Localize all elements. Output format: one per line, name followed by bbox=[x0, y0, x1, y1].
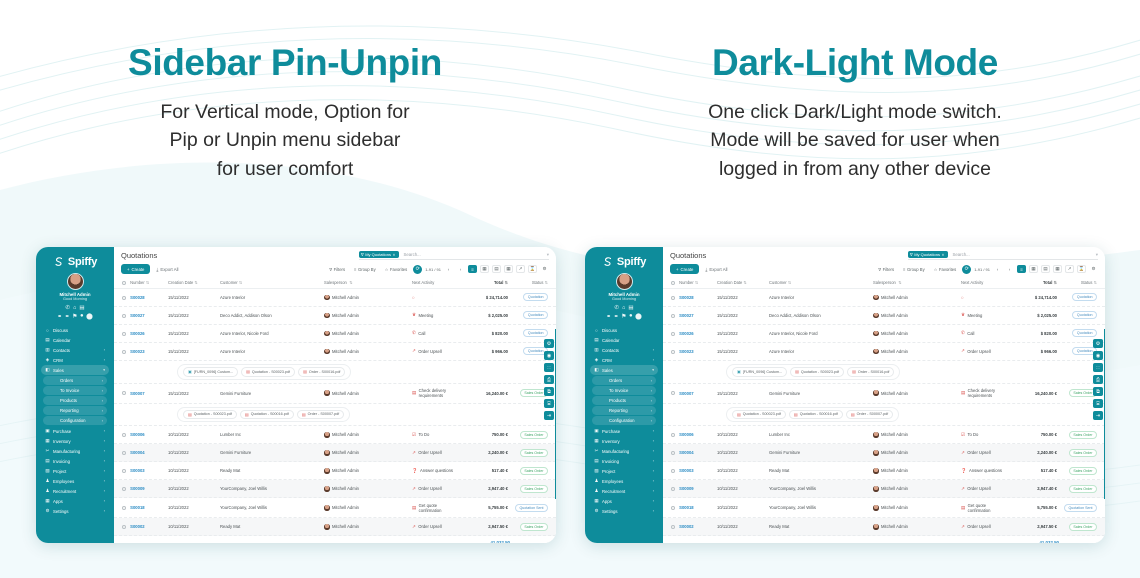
cell-number[interactable]: S00027 bbox=[122, 313, 168, 318]
sidebar-item-reporting[interactable]: Reporting› bbox=[43, 406, 107, 415]
fab-print-icon[interactable]: ⎙ bbox=[544, 375, 554, 384]
sidebar-item-inventory[interactable]: ▦Inventory› bbox=[590, 436, 658, 446]
sidebar-item-crm[interactable]: ◈CRM› bbox=[590, 355, 658, 365]
graph-view-icon[interactable]: ↗ bbox=[516, 265, 525, 273]
table-row[interactable]: S00004 10/11/2022 Gemini Furniture Mitch… bbox=[114, 444, 556, 462]
pivot-view-icon[interactable]: ▦ bbox=[1053, 265, 1062, 273]
table-row[interactable]: S00027 15/11/2022 Deco Addict, Addison O… bbox=[114, 307, 556, 325]
app-logo[interactable]: Spiffy bbox=[40, 256, 110, 268]
attachment-row: ▣ [FURN_0096] Custom... ▤ Quotation - S0… bbox=[663, 361, 1105, 384]
attachment-pill[interactable]: ▤ Order - S00007.pdf bbox=[297, 410, 344, 420]
table-row[interactable]: S00018 10/11/2022 YourCompany, Joel Will… bbox=[114, 498, 556, 518]
table-row[interactable]: S00003 10/11/2022 Ready Mat Mitchell Adm… bbox=[114, 462, 556, 480]
cell-creation-date: 15/11/2022 bbox=[168, 313, 220, 318]
avatar bbox=[873, 295, 879, 301]
cell-number[interactable]: S00023 bbox=[122, 349, 168, 354]
list-view-icon[interactable]: ≡ bbox=[468, 265, 477, 273]
sidebar-item-manufacturing[interactable]: ✂Manufacturing› bbox=[41, 446, 109, 456]
attachment-pill[interactable]: ▤ Quotation - S00023.pdf bbox=[183, 410, 237, 420]
cell-number[interactable]: S00027 bbox=[671, 313, 717, 318]
sidebar-item-apps[interactable]: ▦Apps› bbox=[41, 496, 109, 506]
row-select-radio-icon[interactable] bbox=[122, 433, 126, 437]
column-header-total[interactable]: Total ⇅ bbox=[1003, 280, 1057, 285]
cell-total: 16,240.00 € bbox=[454, 391, 508, 396]
sidebar-item-orders[interactable]: Orders› bbox=[43, 376, 107, 385]
sidebar-item-label: Employees bbox=[602, 479, 623, 484]
star-icon: ☆ bbox=[934, 267, 938, 272]
search-bar[interactable]: ∇ My Quotations ✕ Search... ▾ bbox=[908, 251, 1098, 260]
column-header-next-activity[interactable]: Next Activity bbox=[961, 280, 1003, 285]
sidebar-item-configuration[interactable]: Configuration› bbox=[43, 416, 107, 425]
sidebar-item-label: Calendar bbox=[602, 338, 619, 343]
create-button[interactable]: + Create bbox=[121, 264, 150, 273]
sidebar-item-crm[interactable]: ◈CRM› bbox=[41, 355, 109, 365]
row-select-radio-icon[interactable] bbox=[671, 469, 675, 473]
close-icon[interactable]: ✕ bbox=[941, 253, 944, 257]
search-filter-chip[interactable]: ∇ My Quotations ✕ bbox=[359, 251, 399, 258]
attachment-pill[interactable]: ▤ Order - S00016.pdf bbox=[298, 367, 345, 377]
cell-number[interactable]: S00028 bbox=[671, 295, 717, 300]
row-select-radio-icon[interactable] bbox=[122, 391, 126, 395]
cell-number[interactable]: S00006 bbox=[122, 432, 168, 437]
sidebar-item-invoicing[interactable]: ▤Invoicing› bbox=[41, 456, 109, 466]
cell-next-activity: ▤ Get quote confirmation bbox=[961, 503, 1003, 513]
table-row[interactable]: S00023 15/11/2022 Azure Interior Mitchel… bbox=[114, 343, 556, 361]
cell-customer: Gemini Furniture bbox=[220, 391, 324, 396]
cell-salesperson: Mitchell Admin bbox=[873, 468, 961, 474]
cell-status: Quotation Sent bbox=[1057, 504, 1097, 512]
fab-camera-icon[interactable]: ◉ bbox=[1093, 351, 1103, 360]
search-input[interactable]: Search... bbox=[404, 252, 421, 257]
sidebar-item-calendar[interactable]: ▤Calendar bbox=[590, 335, 658, 345]
home-icon[interactable]: ⌂ bbox=[73, 305, 76, 311]
cell-number[interactable]: S00004 bbox=[122, 450, 168, 455]
pivot-view-icon[interactable]: ▦ bbox=[504, 265, 513, 273]
plus-icon: + bbox=[127, 267, 130, 272]
sidebar-item-orders[interactable]: Orders› bbox=[592, 376, 656, 385]
sidebar-item-contacts[interactable]: ▥Contacts› bbox=[590, 345, 658, 355]
column-header-status[interactable]: Status ⇅ bbox=[1057, 280, 1097, 285]
row-select-radio-icon[interactable] bbox=[671, 451, 675, 455]
column-header-creation-date[interactable]: Creation Date ⇅ bbox=[717, 280, 769, 285]
cell-number[interactable]: S00006 bbox=[671, 432, 717, 437]
table-row[interactable]: S00027 15/11/2022 Deco Addict, Addison O… bbox=[663, 307, 1105, 325]
status-badge: Sales Order bbox=[520, 485, 548, 493]
sidebar-item-sales[interactable]: ◧Sales▾ bbox=[41, 365, 109, 375]
meeting-icon: ♛ bbox=[961, 312, 965, 318]
cell-status: Quotation bbox=[1057, 329, 1097, 337]
cell-total: 750.00 € bbox=[1003, 432, 1057, 437]
select-all-radio-icon[interactable] bbox=[671, 281, 675, 285]
attachment-pill[interactable]: ▤ Quotation - S00016.pdf bbox=[789, 410, 843, 420]
sidebar-item-sales[interactable]: ◧Sales▾ bbox=[590, 365, 658, 375]
sort-icon: ⇅ bbox=[898, 280, 901, 285]
table-row[interactable]: S00026 15/11/2022 Azure Interior, Nicole… bbox=[663, 325, 1105, 343]
column-header-number[interactable]: Number ⇅ bbox=[122, 280, 168, 285]
sidebar-item-invoicing[interactable]: ▤Invoicing› bbox=[590, 456, 658, 466]
row-select-radio-icon[interactable] bbox=[671, 314, 675, 318]
link-alt-icon[interactable]: ⚭ bbox=[614, 313, 619, 320]
apps-icon: ▦ bbox=[594, 498, 599, 504]
column-header-creation-date[interactable]: Creation Date ⇅ bbox=[168, 280, 220, 285]
sort-icon: ⇅ bbox=[194, 280, 197, 285]
cell-customer: Lumber Inc bbox=[769, 432, 873, 437]
pagination-prev-button[interactable]: ‹ bbox=[993, 265, 1002, 273]
row-select-radio-icon[interactable] bbox=[122, 487, 126, 491]
cell-salesperson: Mitchell Admin bbox=[324, 313, 412, 319]
cell-next-activity: ▤ Check delivery requirements bbox=[961, 388, 1003, 398]
pdf-file-icon: ▤ bbox=[188, 412, 192, 417]
table-row[interactable]: S00023 15/11/2022 Azure Interior Mitchel… bbox=[663, 343, 1105, 361]
search-bar[interactable]: ∇ My Quotations ✕ Search... ▾ bbox=[359, 251, 549, 260]
phone-icon[interactable]: ✆ bbox=[65, 305, 70, 311]
chevron-right-icon: › bbox=[653, 429, 654, 433]
kanban-view-icon[interactable]: ▦ bbox=[1029, 265, 1038, 273]
attachment-row: ▤ Quotation - S00023.pdf ▤ Quotation - S… bbox=[114, 404, 556, 427]
sidebar-item-label: Sales bbox=[53, 368, 64, 373]
calendar-view-icon[interactable]: ▤ bbox=[1041, 265, 1050, 273]
cell-creation-date: 10/11/2022 bbox=[717, 486, 769, 491]
settings-icon[interactable]: ⚙ bbox=[540, 265, 549, 273]
select-all-radio-icon[interactable] bbox=[122, 281, 126, 285]
hero-column-right: Dark-Light Mode One click Dark/Light mod… bbox=[570, 0, 1140, 215]
cell-number[interactable]: S00007 bbox=[671, 391, 717, 396]
search-filter-chip[interactable]: ∇ My Quotations ✕ bbox=[908, 251, 948, 258]
group-icon: ≡ bbox=[354, 267, 356, 272]
fab-export-icon[interactable]: ⇥ bbox=[544, 411, 554, 420]
fab-export-icon[interactable]: ⇥ bbox=[1093, 411, 1103, 420]
cell-next-activity: ▤ Get quote confirmation bbox=[412, 503, 454, 513]
toolbar-group-by[interactable]: ≡ Group By bbox=[900, 265, 928, 273]
cell-number[interactable]: S00009 bbox=[122, 486, 168, 491]
status-badge: Quotation Sent bbox=[1064, 504, 1097, 512]
chevron-right-icon: › bbox=[104, 439, 105, 443]
sort-icon: ⇅ bbox=[695, 280, 698, 285]
cell-total: 5,755.00 € bbox=[1003, 505, 1057, 510]
sidebar-item-recruitment[interactable]: ♟Recruitment› bbox=[590, 486, 658, 496]
user-greeting: Good Morning bbox=[40, 297, 110, 301]
column-header-status[interactable]: Status ⇅ bbox=[508, 280, 548, 285]
sidebar-item-settings[interactable]: ⚙Settings› bbox=[590, 506, 658, 516]
sort-icon: ⇅ bbox=[1094, 280, 1097, 285]
toolbar-filters[interactable]: ∇ Filters bbox=[875, 265, 897, 273]
table-row[interactable]: S00026 15/11/2022 Azure Interior, Nicole… bbox=[114, 325, 556, 343]
cell-total: 2,947.50 € bbox=[1003, 524, 1057, 529]
export-all-button[interactable]: ⤓ Export All bbox=[705, 267, 727, 272]
refresh-circle-button[interactable]: ⟳ bbox=[962, 265, 971, 274]
sidebar-item-settings[interactable]: ⚙Settings› bbox=[41, 506, 109, 516]
sidebar-item-manufacturing[interactable]: ✂Manufacturing› bbox=[590, 446, 658, 456]
row-select-radio-icon[interactable] bbox=[122, 451, 126, 455]
sidebar-item-discuss[interactable]: ○Discuss bbox=[41, 326, 109, 335]
filter-icon: ∇ bbox=[361, 252, 364, 257]
cell-creation-date: 15/11/2022 bbox=[168, 391, 220, 396]
sidebar: Spiffy Mitchell Admin Good Morning ✆⌂▤ ⚭… bbox=[36, 247, 114, 543]
table-row[interactable]: S00007 15/11/2022 Gemini Furniture Mitch… bbox=[114, 384, 556, 404]
sidebar-item-label: Sales bbox=[602, 368, 613, 373]
cell-customer: Ready Mat bbox=[220, 524, 324, 529]
cell-number[interactable]: S00023 bbox=[671, 349, 717, 354]
cell-salesperson: Mitchell Admin bbox=[324, 505, 412, 511]
fab-print-icon[interactable]: ⎙ bbox=[1093, 375, 1103, 384]
pagination-next-button[interactable]: › bbox=[456, 265, 465, 273]
home-icon[interactable]: ⌂ bbox=[622, 305, 625, 311]
link-icon[interactable]: ⚭ bbox=[606, 313, 611, 320]
row-select-radio-icon[interactable] bbox=[671, 506, 675, 510]
sort-icon: ⇅ bbox=[743, 280, 746, 285]
sidebar-item-inventory[interactable]: ▦Inventory› bbox=[41, 436, 109, 446]
pagination-prev-button[interactable]: ‹ bbox=[444, 265, 453, 273]
fab-settings-gear-icon[interactable]: ⚙ bbox=[544, 339, 554, 348]
filter-icon[interactable]: ⚑ bbox=[621, 313, 626, 320]
attachment-pill[interactable]: ▣ [FURN_0096] Custom... bbox=[732, 367, 787, 377]
pagination-next-button[interactable]: › bbox=[1005, 265, 1014, 273]
cell-creation-date: 15/11/2022 bbox=[168, 331, 220, 336]
cell-total: 2,947.40 € bbox=[1003, 486, 1057, 491]
row-select-radio-icon[interactable] bbox=[671, 296, 675, 300]
chevron-down-icon[interactable]: ▾ bbox=[1096, 252, 1098, 258]
column-header-salesperson[interactable]: Salesperson ⇅ bbox=[873, 280, 961, 285]
column-header-number[interactable]: Number ⇅ bbox=[671, 280, 717, 285]
activity-view-icon[interactable]: ⌛ bbox=[1077, 265, 1086, 273]
chart-icon: ↗ bbox=[412, 524, 416, 530]
cell-creation-date: 10/11/2022 bbox=[168, 524, 220, 529]
sidebar-item-discuss[interactable]: ○Discuss bbox=[590, 326, 658, 335]
toolbar-filters[interactable]: ∇ Filters bbox=[326, 265, 348, 273]
column-header-salesperson[interactable]: Salesperson ⇅ bbox=[324, 280, 412, 285]
avatar[interactable] bbox=[67, 273, 84, 290]
avatar[interactable] bbox=[616, 273, 633, 290]
cell-number[interactable]: S00018 bbox=[671, 505, 717, 510]
sidebar-item-label: Configuration bbox=[60, 418, 86, 423]
cell-creation-date: 15/11/2022 bbox=[717, 313, 769, 318]
row-select-radio-icon[interactable] bbox=[122, 506, 126, 510]
row-select-radio-icon[interactable] bbox=[671, 391, 675, 395]
pdf-file-icon: ▤ bbox=[303, 369, 307, 374]
cell-next-activity: ↗ Order Upsell bbox=[412, 348, 454, 354]
status-badge: Sales Order bbox=[1069, 523, 1097, 531]
row-select-radio-icon[interactable] bbox=[671, 350, 675, 354]
cell-customer: Deco Addict, Addison Olson bbox=[220, 313, 324, 318]
activity-view-icon[interactable]: ⌛ bbox=[528, 265, 537, 273]
fab-duplicate-icon[interactable]: ⧉ bbox=[1093, 387, 1103, 396]
avatar bbox=[873, 432, 879, 438]
calendar-icon[interactable]: ▤ bbox=[628, 305, 633, 311]
lock-icon[interactable]: ● bbox=[629, 313, 633, 320]
row-select-radio-icon[interactable] bbox=[122, 525, 126, 529]
sidebar-item-products[interactable]: Products› bbox=[592, 396, 656, 405]
fab-grid-icon[interactable]: ∷ bbox=[544, 363, 554, 372]
cell-next-activity: ☑ To Do bbox=[412, 432, 454, 438]
row-select-radio-icon[interactable] bbox=[671, 433, 675, 437]
cell-creation-date: 10/11/2022 bbox=[717, 450, 769, 455]
column-header-customer[interactable]: Customer ⇅ bbox=[769, 280, 873, 285]
status-badge: Sales Order bbox=[1069, 431, 1097, 439]
chevron-right-icon: › bbox=[653, 509, 654, 513]
sidebar-item-configuration[interactable]: Configuration› bbox=[592, 416, 656, 425]
fab-camera-icon[interactable]: ◉ bbox=[544, 351, 554, 360]
table-row[interactable]: S00006 10/11/2022 Lumber Inc Mitchell Ad… bbox=[114, 426, 556, 444]
cell-creation-date: 10/11/2022 bbox=[717, 432, 769, 437]
chevron-down-icon[interactable]: ▾ bbox=[547, 252, 549, 258]
search-input[interactable]: Search... bbox=[953, 252, 970, 257]
row-select-radio-icon[interactable] bbox=[122, 350, 126, 354]
export-all-button[interactable]: ⤓ Export All bbox=[156, 267, 178, 272]
table-row[interactable]: S00028 15/11/2022 Azure Interior Mitchel… bbox=[114, 289, 556, 307]
phone-icon[interactable]: ✆ bbox=[614, 305, 619, 311]
table-row[interactable]: S00006 10/11/2022 Lumber Inc Mitchell Ad… bbox=[663, 426, 1105, 444]
refresh-circle-button[interactable]: ⟳ bbox=[413, 265, 422, 274]
calendar-icon: ▤ bbox=[412, 505, 416, 511]
sidebar-item-calendar[interactable]: ▤Calendar bbox=[41, 335, 109, 345]
fab-archive-icon[interactable]: ⌸ bbox=[544, 399, 554, 408]
list-view-icon[interactable]: ≡ bbox=[1017, 265, 1026, 273]
sidebar-item-label: CRM bbox=[53, 358, 63, 363]
attachment-pill[interactable]: ▣ [FURN_0096] Custom... bbox=[183, 367, 238, 377]
cell-total: 2,947.50 € bbox=[454, 524, 508, 529]
status-badge: Sales Order bbox=[520, 449, 548, 457]
cell-total: 5,755.00 € bbox=[454, 505, 508, 510]
cell-status: Sales Order bbox=[1057, 449, 1097, 457]
cell-salesperson: Mitchell Admin bbox=[324, 390, 412, 396]
cell-number[interactable]: S00026 bbox=[122, 331, 168, 336]
toolbar-favorites[interactable]: ☆ Favorites bbox=[931, 265, 960, 273]
close-icon[interactable]: ✕ bbox=[392, 253, 395, 257]
sidebar-item-contacts[interactable]: ▥Contacts› bbox=[41, 345, 109, 355]
sidebar-menu: ○Discuss ▤Calendar ▥Contacts› ◈CRM› ◧Sal… bbox=[40, 326, 110, 516]
pin-icon[interactable]: ⬤ bbox=[86, 313, 93, 320]
status-badge: Quotation bbox=[523, 329, 548, 337]
lock-icon[interactable]: ● bbox=[80, 313, 84, 320]
row-select-radio-icon[interactable] bbox=[671, 332, 675, 336]
table-row[interactable]: S00002 10/11/2022 Ready Mat Mitchell Adm… bbox=[114, 518, 556, 536]
cell-number[interactable]: S00002 bbox=[671, 524, 717, 529]
cell-salesperson: Mitchell Admin bbox=[873, 295, 961, 301]
sidebar-item-recruitment[interactable]: ♟Recruitment› bbox=[41, 486, 109, 496]
table-row[interactable]: S00002 10/11/2022 Ready Mat Mitchell Adm… bbox=[663, 518, 1105, 536]
status-badge: Sales Order bbox=[1069, 449, 1097, 457]
clock-icon: ○ bbox=[412, 295, 415, 300]
cell-number[interactable]: S00002 bbox=[122, 524, 168, 529]
row-select-radio-icon[interactable] bbox=[122, 469, 126, 473]
calendar-view-icon[interactable]: ▤ bbox=[492, 265, 501, 273]
cell-next-activity: ♛ Meeting bbox=[412, 312, 454, 318]
cell-number[interactable]: S00026 bbox=[671, 331, 717, 336]
column-header-total[interactable]: Total ⇅ bbox=[454, 280, 508, 285]
cell-salesperson: Mitchell Admin bbox=[873, 313, 961, 319]
fab-duplicate-icon[interactable]: ⧉ bbox=[544, 387, 554, 396]
row-select-radio-icon[interactable] bbox=[671, 487, 675, 491]
fab-archive-icon[interactable]: ⌸ bbox=[1093, 399, 1103, 408]
sidebar-item-reporting[interactable]: Reporting› bbox=[592, 406, 656, 415]
table-row[interactable]: S00028 15/11/2022 Azure Interior Mitchel… bbox=[663, 289, 1105, 307]
sidebar-item-to-invoice[interactable]: To Invoice› bbox=[592, 386, 656, 395]
kanban-view-icon[interactable]: ▦ bbox=[480, 265, 489, 273]
row-select-radio-icon[interactable] bbox=[122, 314, 126, 318]
table-row[interactable]: S00007 15/11/2022 Gemini Furniture Mitch… bbox=[663, 384, 1105, 404]
attachment-pill[interactable]: ▤ Order - S00007.pdf bbox=[846, 410, 893, 420]
calendar-icon: ▤ bbox=[961, 390, 965, 396]
sidebar-item-employees[interactable]: ♟Employees› bbox=[590, 476, 658, 486]
fab-settings-gear-icon[interactable]: ⚙ bbox=[1093, 339, 1103, 348]
attachment-pill[interactable]: ▤ Quotation - S00023.pdf bbox=[732, 410, 786, 420]
fab-grid-icon[interactable]: ∷ bbox=[1093, 363, 1103, 372]
row-select-radio-icon[interactable] bbox=[122, 332, 126, 336]
table-header: Number ⇅ Creation Date ⇅ Customer ⇅ Sale… bbox=[663, 278, 1105, 289]
table-row[interactable]: S00009 10/11/2022 YourCompany, Joel Will… bbox=[114, 480, 556, 498]
attachment-pill[interactable]: ▤ Order - S00016.pdf bbox=[847, 367, 894, 377]
link-icon[interactable]: ⚭ bbox=[57, 313, 62, 320]
sidebar-item-purchase[interactable]: ▣Purchase› bbox=[41, 426, 109, 436]
column-header-customer[interactable]: Customer ⇅ bbox=[220, 280, 324, 285]
hero-subtitle-right: One click Dark/Light mode switch. Mode w… bbox=[570, 98, 1140, 183]
cell-customer: Lumber Inc bbox=[220, 432, 324, 437]
toolbar-favorites[interactable]: ☆ Favorites bbox=[382, 265, 411, 273]
app-logo[interactable]: Spiffy bbox=[589, 256, 659, 268]
filter-icon[interactable]: ⚑ bbox=[72, 313, 77, 320]
create-button[interactable]: + Create bbox=[670, 264, 699, 273]
table-row[interactable]: S00004 10/11/2022 Gemini Furniture Mitch… bbox=[663, 444, 1105, 462]
attachment-pill[interactable]: ▤ Quotation - S00023.pdf bbox=[241, 367, 295, 377]
toolbar-group-by[interactable]: ≡ Group By bbox=[351, 265, 379, 273]
column-header-next-activity[interactable]: Next Activity bbox=[412, 280, 454, 285]
cell-number[interactable]: S00004 bbox=[671, 450, 717, 455]
cell-number[interactable]: S00003 bbox=[122, 468, 168, 473]
inventory-icon: ▦ bbox=[45, 438, 50, 444]
graph-view-icon[interactable]: ↗ bbox=[1065, 265, 1074, 273]
table-row[interactable]: S00018 10/11/2022 YourCompany, Joel Will… bbox=[663, 498, 1105, 518]
cell-status: Sales Order bbox=[508, 449, 548, 457]
cell-number[interactable]: S00018 bbox=[122, 505, 168, 510]
chevron-right-icon: › bbox=[104, 509, 105, 513]
avatar bbox=[873, 486, 879, 492]
employees-icon: ♟ bbox=[45, 478, 50, 484]
sidebar-item-purchase[interactable]: ▣Purchase› bbox=[590, 426, 658, 436]
sidebar-item-to-invoice[interactable]: To Invoice› bbox=[43, 386, 107, 395]
chevron-right-icon: › bbox=[653, 479, 654, 483]
cell-number[interactable]: S00028 bbox=[122, 295, 168, 300]
row-select-radio-icon[interactable] bbox=[671, 525, 675, 529]
sidebar-item-label: Purchase bbox=[602, 429, 620, 434]
table-row[interactable]: S00003 10/11/2022 Ready Mat Mitchell Adm… bbox=[663, 462, 1105, 480]
sidebar-item-employees[interactable]: ♟Employees› bbox=[41, 476, 109, 486]
calendar-icon[interactable]: ▤ bbox=[79, 305, 84, 311]
sidebar-item-project[interactable]: ▧Project› bbox=[590, 466, 658, 476]
attachment-pill[interactable]: ▤ Quotation - S00023.pdf bbox=[790, 367, 844, 377]
sort-icon: ⇅ bbox=[788, 280, 791, 285]
sidebar-item-label: Orders bbox=[609, 378, 622, 383]
sidebar-item-label: Manufacturing bbox=[53, 449, 80, 454]
sidebar-item-apps[interactable]: ▦Apps› bbox=[590, 496, 658, 506]
row-select-radio-icon[interactable] bbox=[122, 296, 126, 300]
cell-number[interactable]: S00007 bbox=[122, 391, 168, 396]
pin-icon[interactable]: ⬤ bbox=[635, 313, 642, 320]
cell-number[interactable]: S00009 bbox=[671, 486, 717, 491]
attachment-pill[interactable]: ▤ Quotation - S00016.pdf bbox=[240, 410, 294, 420]
invoicing-icon: ▤ bbox=[594, 458, 599, 464]
sidebar-item-products[interactable]: Products› bbox=[43, 396, 107, 405]
attachment-row: ▣ [FURN_0096] Custom... ▤ Quotation - S0… bbox=[114, 361, 556, 384]
sidebar-item-label: CRM bbox=[602, 358, 612, 363]
attachment-pill-group: ▤ Quotation - S00023.pdf ▤ Quotation - S… bbox=[726, 407, 899, 423]
cell-number[interactable]: S00003 bbox=[671, 468, 717, 473]
sidebar-item-project[interactable]: ▧Project› bbox=[41, 466, 109, 476]
hero-section: Sidebar Pin-Unpin For Vertical mode, Opt… bbox=[0, 0, 1140, 215]
settings-icon[interactable]: ⚙ bbox=[1089, 265, 1098, 273]
table-row[interactable]: S00009 10/11/2022 YourCompany, Joel Will… bbox=[663, 480, 1105, 498]
link-alt-icon[interactable]: ⚭ bbox=[65, 313, 70, 320]
cell-status: Sales Order bbox=[1057, 523, 1097, 531]
